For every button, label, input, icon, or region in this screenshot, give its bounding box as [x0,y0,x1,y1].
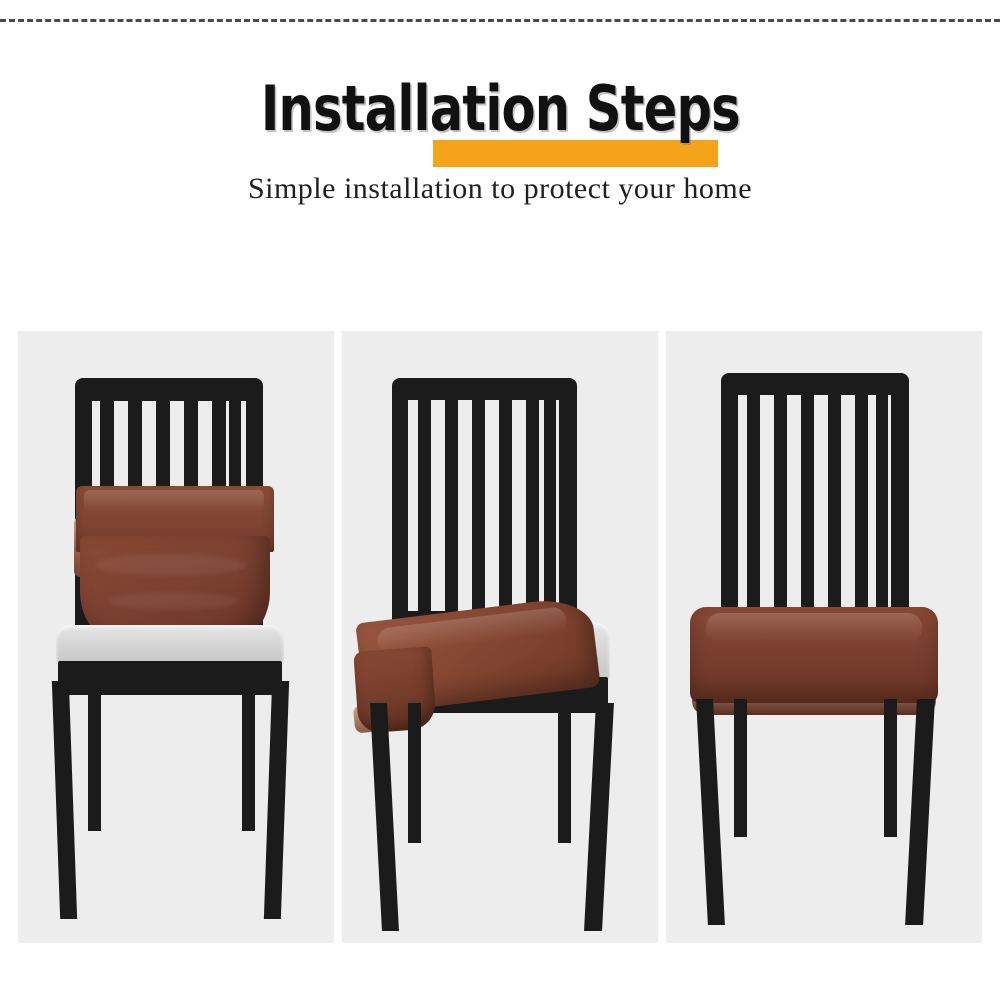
chair-leg-front-left [52,681,77,919]
chair-illustration-3 [666,331,982,943]
page-title-wrapper: Installation Steps [201,78,800,140]
chair-back-slat [526,398,539,612]
page-subtitle: Simple installation to protect your home [0,172,1000,206]
chair-back-slat [801,393,814,615]
step-panel-2 [342,331,658,943]
chair-leg-back-right [884,699,897,837]
chair-back-left-post [721,373,738,643]
chair-leg-front-left [370,703,399,931]
chair-back-slat [876,393,888,615]
chair-leg-front-left [696,699,725,925]
chair-leg-back-left [88,683,101,831]
chair-back-right-post [891,373,909,643]
chair-back-slat [774,393,787,615]
chair-back-slat [445,398,458,612]
chair-back-top-rail [75,378,263,401]
chair-back-slat [855,393,868,615]
step-panel-3 [666,331,982,943]
chair-illustration-2 [342,331,658,943]
chair-leg-front-right [264,681,289,919]
chair-leg-back-left [408,703,421,843]
chair-back-top-rail [721,373,909,395]
chair-leg-back-right [242,683,255,831]
chair-cover-installed-3 [690,607,938,703]
chair-back-top-rail [392,378,577,400]
chair-back-slat [544,398,556,612]
header: Installation Steps Simple installation t… [0,78,1000,206]
chair-leg-front-right [584,703,614,931]
chair-illustration-1 [18,331,334,943]
top-dashed-divider [0,19,1000,22]
step-panel-1 [18,331,334,943]
chair-back-slat [499,398,512,612]
chair-leg-back-left [734,699,747,837]
chair-cover-tail-2 [353,646,437,733]
chair-back-slat [828,393,841,615]
chair-back-left-post [392,378,408,640]
chair-leg-front-right [905,699,935,925]
chair-back-slat [747,393,760,615]
chair-leg-back-right [558,703,571,843]
chair-back-slat [472,398,485,612]
chair-back-slat [418,398,431,612]
chair-back-right-post [559,378,577,640]
page-title: Installation Steps [260,78,739,140]
steps-panel-group [18,331,982,943]
